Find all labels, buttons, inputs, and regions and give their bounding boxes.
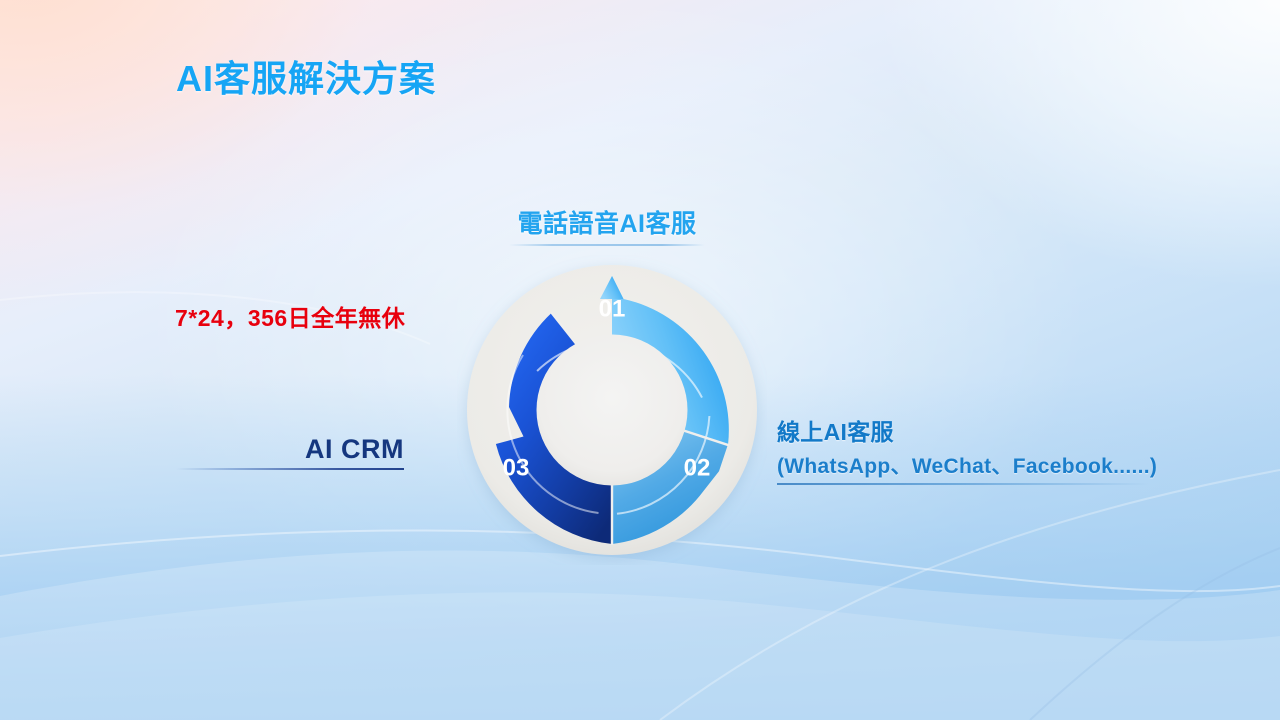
donut-label-01: 01 <box>599 295 626 322</box>
donut-diagram: 01 02 03 <box>457 255 767 565</box>
callout-ai-crm-label: AI CRM <box>176 434 404 465</box>
callout-ai-crm-underline <box>176 468 404 470</box>
callout-online-service-label: 線上AI客服 <box>777 413 1157 447</box>
callout-phone-voice: 電話語音AI客服 <box>509 204 705 246</box>
callout-availability: 7*24，356日全年無休 <box>175 299 405 333</box>
callout-phone-voice-underline <box>509 244 705 246</box>
donut-chart: 01 02 03 <box>457 255 767 565</box>
callout-ai-crm: AI CRM <box>176 434 404 470</box>
donut-label-03: 03 <box>503 454 530 481</box>
donut-center-hole <box>537 335 688 486</box>
page-title: AI客服解決方案 <box>176 50 436 102</box>
callout-online-service: 線上AI客服 (WhatsApp、WeChat、Facebook......) <box>777 413 1157 485</box>
callout-online-service-channels: (WhatsApp、WeChat、Facebook......) <box>777 450 1157 480</box>
donut-label-02: 02 <box>684 454 711 481</box>
callout-online-service-underline <box>777 483 1149 485</box>
slide-canvas: AI客服解決方案 電話語音AI客服 7*24，356日全年無休 AI CRM 線… <box>0 0 1280 720</box>
callout-phone-voice-label: 電話語音AI客服 <box>509 204 705 240</box>
